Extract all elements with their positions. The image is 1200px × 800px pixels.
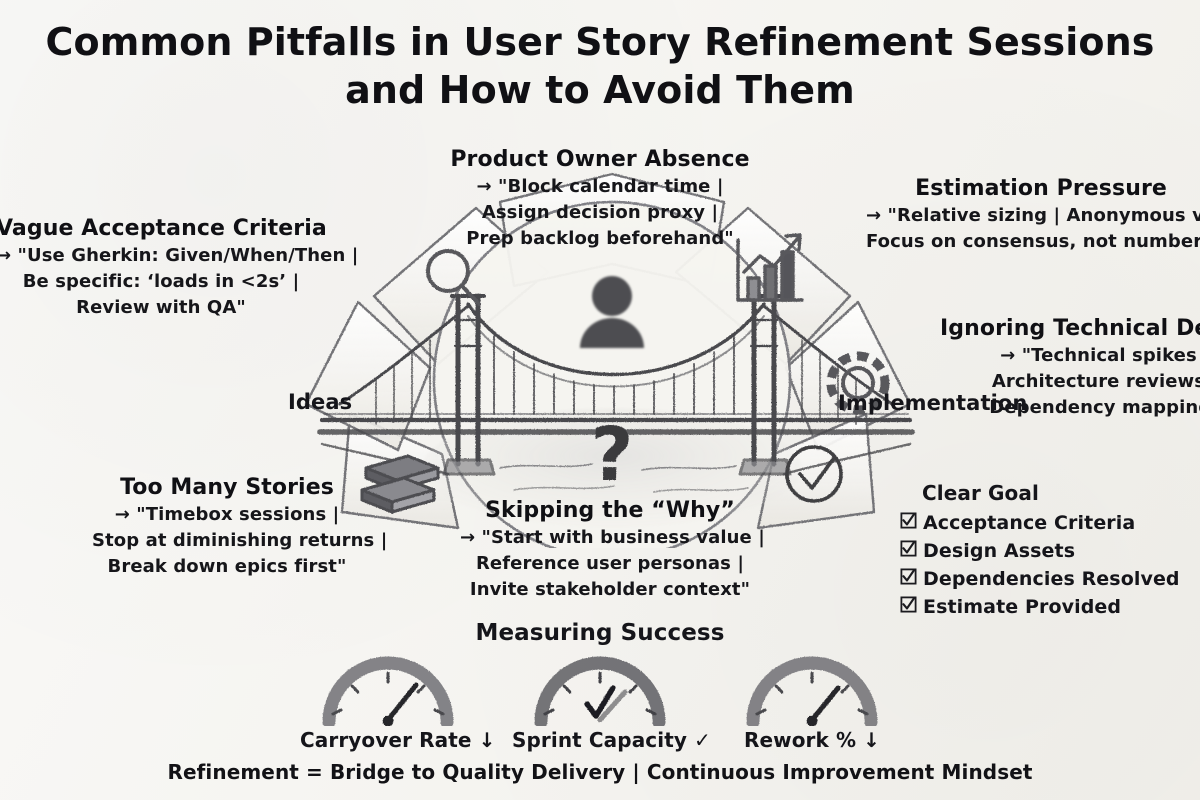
title-line-1: Common Pitfalls in User Story Refinement… [0, 18, 1200, 66]
svg-text:?: ? [591, 412, 634, 498]
metric-rework-percent: Rework % ↓ [724, 652, 900, 752]
checkbox-checked-icon[interactable] [900, 510, 917, 537]
gauge-icon [737, 652, 887, 726]
callout-estimation-pressure: Estimation Pressure → "Relative sizing |… [866, 175, 1200, 255]
callout-too-many-stories: Too Many Stories → "Timebox sessions | S… [92, 474, 362, 580]
gauge-icon [313, 652, 463, 726]
metrics-title: Measuring Success [300, 618, 900, 648]
callout-line: → "Block calendar time | [450, 174, 750, 200]
checkbox-checked-icon[interactable] [900, 538, 917, 565]
definition-of-ready-checklist: Clear Goal Acceptance Criteria Design As… [900, 480, 1150, 622]
checklist-item[interactable]: Estimate Provided [900, 594, 1150, 621]
callout-skipping-the-why: Skipping the “Why” → "Start with busines… [460, 497, 760, 603]
callout-line: → "Timebox sessions | [92, 502, 362, 528]
checklist-title: Clear Goal [922, 480, 1150, 506]
callout-line: Stop at diminishing returns | [92, 528, 362, 554]
question-mark-icon: ? [591, 412, 634, 498]
callout-line: Architecture reviews | [940, 369, 1200, 395]
callout-line: → "Use Gherkin: Given/When/Then | [0, 243, 326, 269]
callout-line: Break down epics first" [92, 554, 362, 580]
metric-label: Sprint Capacity ✓ [512, 728, 688, 752]
checklist-item-label: Design Assets [923, 538, 1075, 565]
checkbox-checked-icon[interactable] [900, 594, 917, 621]
callout-heading: Too Many Stories [92, 474, 362, 502]
callout-line: Dependency mapping" [940, 395, 1200, 421]
checklist-item[interactable]: Dependencies Resolved [900, 566, 1150, 593]
checklist-item[interactable]: Acceptance Criteria [900, 510, 1150, 537]
checklist-item-label: Estimate Provided [923, 594, 1121, 621]
checklist-item-label: Dependencies Resolved [923, 566, 1180, 593]
metric-carryover-rate: Carryover Rate ↓ [300, 652, 476, 752]
callout-line: Be specific: ‘loads in <2s’ | [0, 269, 326, 295]
callout-line: Focus on consensus, not numbers" [866, 229, 1200, 255]
infographic-canvas: Common Pitfalls in User Story Refinement… [0, 0, 1200, 800]
title-line-2: and How to Avoid Them [0, 66, 1200, 114]
callout-line: Reference user personas | [460, 551, 760, 577]
measuring-success-section: Measuring Success Carryover Rate ↓ [300, 618, 900, 752]
checkbox-checked-icon[interactable] [900, 566, 917, 593]
callout-line: Review with QA" [0, 295, 326, 321]
checklist-item-label: Acceptance Criteria [923, 510, 1135, 537]
metric-label: Rework % ↓ [724, 728, 900, 752]
callout-line: → "Technical spikes | [940, 343, 1200, 369]
callout-heading: Ignoring Technical Dependencies [940, 315, 1200, 343]
page-title: Common Pitfalls in User Story Refinement… [0, 18, 1200, 114]
callout-product-owner-absence: Product Owner Absence → "Block calendar … [450, 146, 750, 252]
callout-heading: Vague Acceptance Criteria [0, 215, 326, 243]
center-left-label: Ideas [288, 390, 352, 414]
callout-heading: Skipping the “Why” [460, 497, 760, 525]
checklist-item[interactable]: Design Assets [900, 538, 1150, 565]
callout-line: Assign decision proxy | [450, 200, 750, 226]
callout-line: Prep backlog beforehand" [450, 226, 750, 252]
callout-heading: Product Owner Absence [450, 146, 750, 174]
callout-line: Invite stakeholder context" [460, 577, 760, 603]
footer-tagline: Refinement = Bridge to Quality Delivery … [0, 760, 1200, 784]
callout-ignoring-technical-dependencies: Ignoring Technical Dependencies → "Techn… [940, 315, 1200, 421]
callout-line: → "Relative sizing | Anonymous voting | [866, 203, 1200, 229]
callout-vague-acceptance-criteria: Vague Acceptance Criteria → "Use Gherkin… [0, 215, 326, 321]
gauge-icon [525, 652, 675, 726]
callout-line: → "Start with business value | [460, 525, 760, 551]
metric-label: Carryover Rate ↓ [300, 728, 476, 752]
callout-heading: Estimation Pressure [866, 175, 1200, 203]
metric-sprint-capacity: Sprint Capacity ✓ [512, 652, 688, 752]
